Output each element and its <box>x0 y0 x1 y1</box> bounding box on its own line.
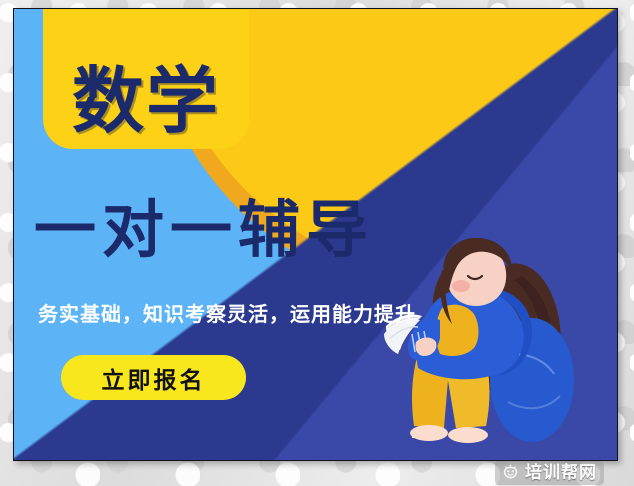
enroll-now-button[interactable]: 立即报名 <box>61 355 246 400</box>
watermark-label: 培训帮网 <box>525 465 597 482</box>
page-title: 一对一辅导 <box>34 199 374 261</box>
seated-woman-reading-book-illustration <box>382 230 597 460</box>
subject-chip-label: 数学 <box>72 65 220 137</box>
subtitle: 务实基础，知识考察灵活，运用能力提升 <box>38 302 416 326</box>
promo-banner[interactable]: 数学 <box>13 8 618 461</box>
watermark: 培训帮网 <box>495 461 604 485</box>
subject-chip: 数学 <box>43 8 249 149</box>
sun-face-icon <box>502 463 519 484</box>
